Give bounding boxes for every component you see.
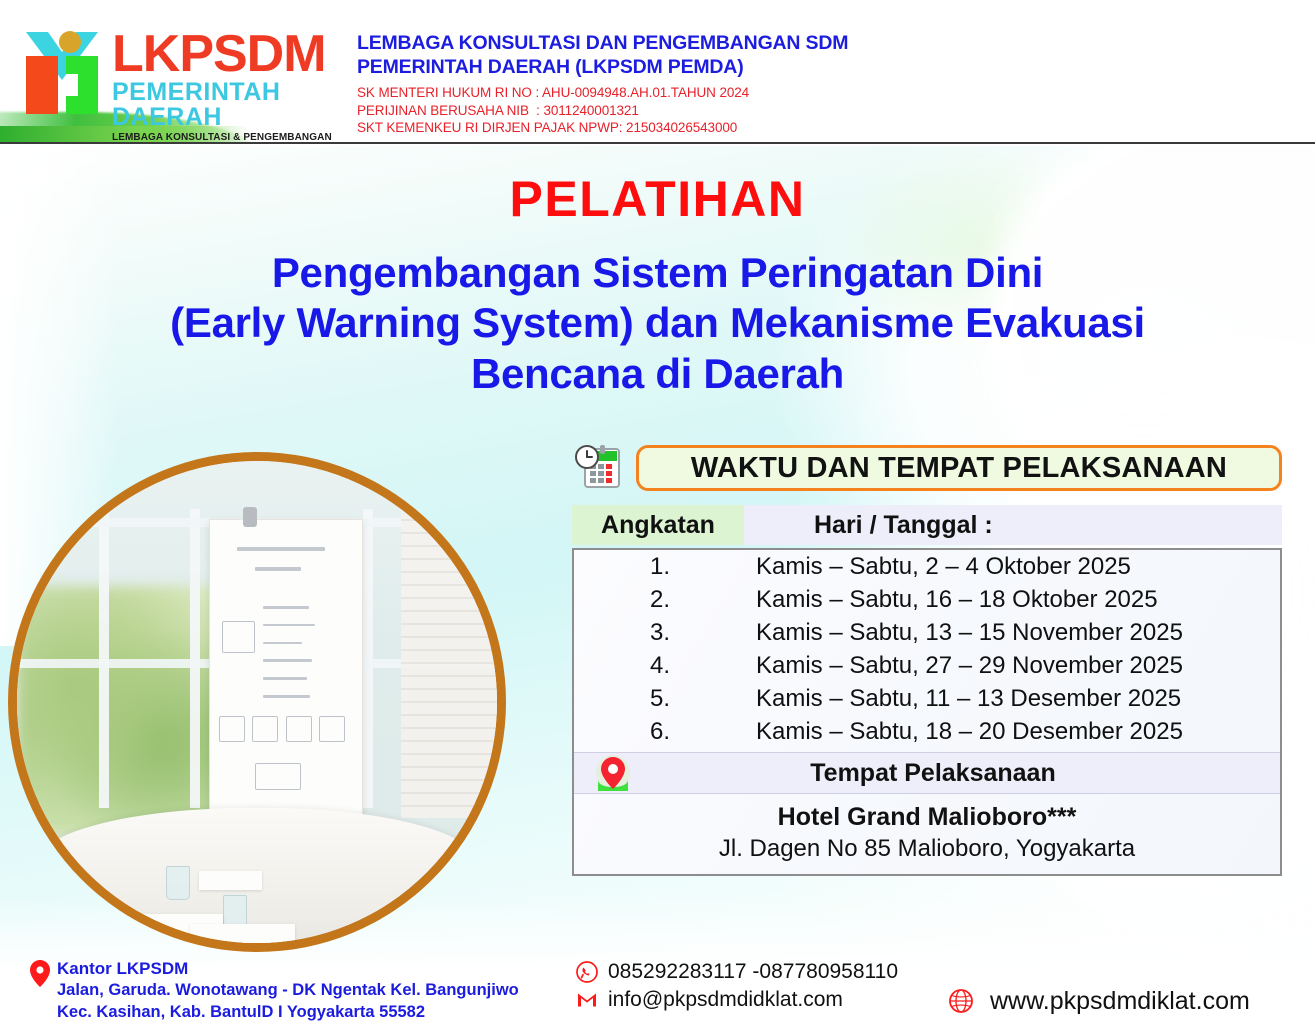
schedule-banner-pill: WAKTU DAN TEMPAT PELAKSANAAN xyxy=(636,445,1282,491)
title-kicker: PELATIHAN xyxy=(0,174,1315,224)
row-number: 4. xyxy=(574,652,746,680)
office-contact-text: Kantor LKPSDM Jalan, Garuda. Wonotawang … xyxy=(57,958,519,1023)
row-number: 6. xyxy=(574,718,746,746)
row-date: Kamis – Sabtu, 16 – 18 Oktober 2025 xyxy=(746,586,1280,614)
schedule-banner-label: WAKTU DAN TEMPAT PELAKSANAAN xyxy=(691,452,1227,485)
website-block[interactable]: www.pkpsdmdiklat.com xyxy=(946,986,1250,1016)
row-date: Kamis – Sabtu, 18 – 20 Desember 2025 xyxy=(746,718,1280,746)
gmail-icon[interactable] xyxy=(575,988,599,1012)
map-pin-icon xyxy=(30,960,50,988)
row-number: 3. xyxy=(574,619,746,647)
legal-registration-block: SK MENTERI HUKUM RI NO : AHU-0094948.AH.… xyxy=(357,84,1057,138)
logo-brand-text: LKPSDM xyxy=(112,30,338,79)
email-address: info@pkpsdmdidklat.com xyxy=(608,988,843,1012)
column-header-hari-tanggal: Hari / Tanggal : xyxy=(744,505,1282,545)
schedule-table: 1. Kamis – Sabtu, 2 – 4 Oktober 2025 2. … xyxy=(572,548,1282,876)
office-address-line-2: Kec. Kasihan, Kab. BantulD I Yogyakarta … xyxy=(57,1002,519,1024)
table-row: 4. Kamis – Sabtu, 27 – 29 November 2025 xyxy=(574,649,1280,682)
calendar-clock-icon xyxy=(572,443,626,493)
venue-details: Hotel Grand Malioboro*** Jl. Dagen No 85… xyxy=(574,794,1280,874)
table-row: 2. Kamis – Sabtu, 16 – 18 Oktober 2025 xyxy=(574,583,1280,616)
globe-icon[interactable] xyxy=(946,986,976,1016)
schedule-banner: WAKTU DAN TEMPAT PELAKSANAAN xyxy=(572,442,1282,494)
venue-header: Tempat Pelaksanaan xyxy=(574,752,1280,794)
table-row: 5. Kamis – Sabtu, 11 – 13 Desember 2025 xyxy=(574,682,1280,715)
logo-subbrand-text: PEMERINTAH DAERAH xyxy=(112,80,338,130)
logo-wordmark: LKPSDM PEMERINTAH DAERAH LEMBAGA KONSULT… xyxy=(112,26,338,144)
column-header-hari-tanggal-label: Hari / Tanggal : xyxy=(814,511,993,540)
row-number: 2. xyxy=(574,586,746,614)
poster-title-block: PELATIHAN Pengembangan Sistem Peringatan… xyxy=(0,174,1315,399)
photo-circular-frame xyxy=(8,452,506,952)
row-date: Kamis – Sabtu, 11 – 13 Desember 2025 xyxy=(746,685,1280,713)
email-row[interactable]: info@pkpsdmdidklat.com xyxy=(575,986,898,1014)
title-line-1: Pengembangan Sistem Peringatan Dini xyxy=(0,248,1315,298)
venue-name: Hotel Grand Malioboro*** xyxy=(574,803,1280,832)
whatsapp-icon[interactable] xyxy=(575,960,599,984)
lkpsdm-logo-mark-icon xyxy=(18,26,106,118)
title-line-2: (Early Warning System) dan Mekanisme Eva… xyxy=(0,298,1315,348)
page-footer: Kantor LKPSDM Jalan, Garuda. Wonotawang … xyxy=(0,952,1315,1036)
phone-number: 085292283117 -087780958110 xyxy=(608,960,898,984)
organization-info: LEMBAGA KONSULTASI DAN PENGEMBANGAN SDM … xyxy=(357,32,1057,137)
column-header-angkatan-label: Angkatan xyxy=(601,511,715,540)
venue-header-label: Tempat Pelaksanaan xyxy=(636,759,1280,788)
title-main: Pengembangan Sistem Peringatan Dini (Ear… xyxy=(0,248,1315,399)
column-header-angkatan: Angkatan xyxy=(572,505,744,545)
table-row: 3. Kamis – Sabtu, 13 – 15 November 2025 xyxy=(574,616,1280,649)
row-date: Kamis – Sabtu, 2 – 4 Oktober 2025 xyxy=(746,553,1280,581)
legal-line-npwp: SKT KEMENKEU RI DIRJEN PAJAK NPWP: 21503… xyxy=(357,119,1057,137)
legal-line-nib: PERIJINAN BERUSAHA NIB : 3011240001321 xyxy=(357,102,1057,120)
phone-email-block: 085292283117 -087780958110 info@pkpsdmdi… xyxy=(575,958,898,1014)
office-contact-block: Kantor LKPSDM Jalan, Garuda. Wonotawang … xyxy=(30,958,519,1023)
office-label: Kantor LKPSDM xyxy=(57,958,519,980)
venue-address: Jl. Dagen No 85 Malioboro, Yogyakarta xyxy=(574,835,1280,863)
photo-scene xyxy=(17,461,497,943)
office-address-line-1: Jalan, Garuda. Wonotawang - DK Ngentak K… xyxy=(57,980,519,1002)
row-number: 5. xyxy=(574,685,746,713)
website-url: www.pkpsdmdiklat.com xyxy=(990,987,1250,1016)
table-row: 1. Kamis – Sabtu, 2 – 4 Oktober 2025 xyxy=(574,550,1280,583)
poster-body: PELATIHAN Pengembangan Sistem Peringatan… xyxy=(0,146,1315,1036)
legal-line-sk: SK MENTERI HUKUM RI NO : AHU-0094948.AH.… xyxy=(357,84,1057,102)
training-photo xyxy=(8,452,506,952)
org-name-line-1: LEMBAGA KONSULTASI DAN PENGEMBANGAN SDM xyxy=(357,32,1057,56)
title-line-3: Bencana di Daerah xyxy=(0,349,1315,399)
row-date: Kamis – Sabtu, 13 – 15 November 2025 xyxy=(746,619,1280,647)
brand-logo: LKPSDM PEMERINTAH DAERAH LEMBAGA KONSULT… xyxy=(18,26,338,130)
org-name-line-2: PEMERINTAH DAERAH (LKPSDM PEMDA) xyxy=(357,56,1057,80)
table-row: 6. Kamis – Sabtu, 18 – 20 Desember 2025 xyxy=(574,715,1280,748)
page-header: LKPSDM PEMERINTAH DAERAH LEMBAGA KONSULT… xyxy=(0,0,1315,144)
schedule-panel: WAKTU DAN TEMPAT PELAKSANAAN Angkatan Ha… xyxy=(572,442,1282,876)
map-pin-icon xyxy=(590,754,636,792)
phone-row[interactable]: 085292283117 -087780958110 xyxy=(575,958,898,986)
logo-tagline-text: LEMBAGA KONSULTASI & PENGEMBANGAN SDM xyxy=(112,132,338,144)
row-date: Kamis – Sabtu, 27 – 29 November 2025 xyxy=(746,652,1280,680)
schedule-column-headers: Angkatan Hari / Tanggal : xyxy=(572,505,1282,545)
row-number: 1. xyxy=(574,553,746,581)
